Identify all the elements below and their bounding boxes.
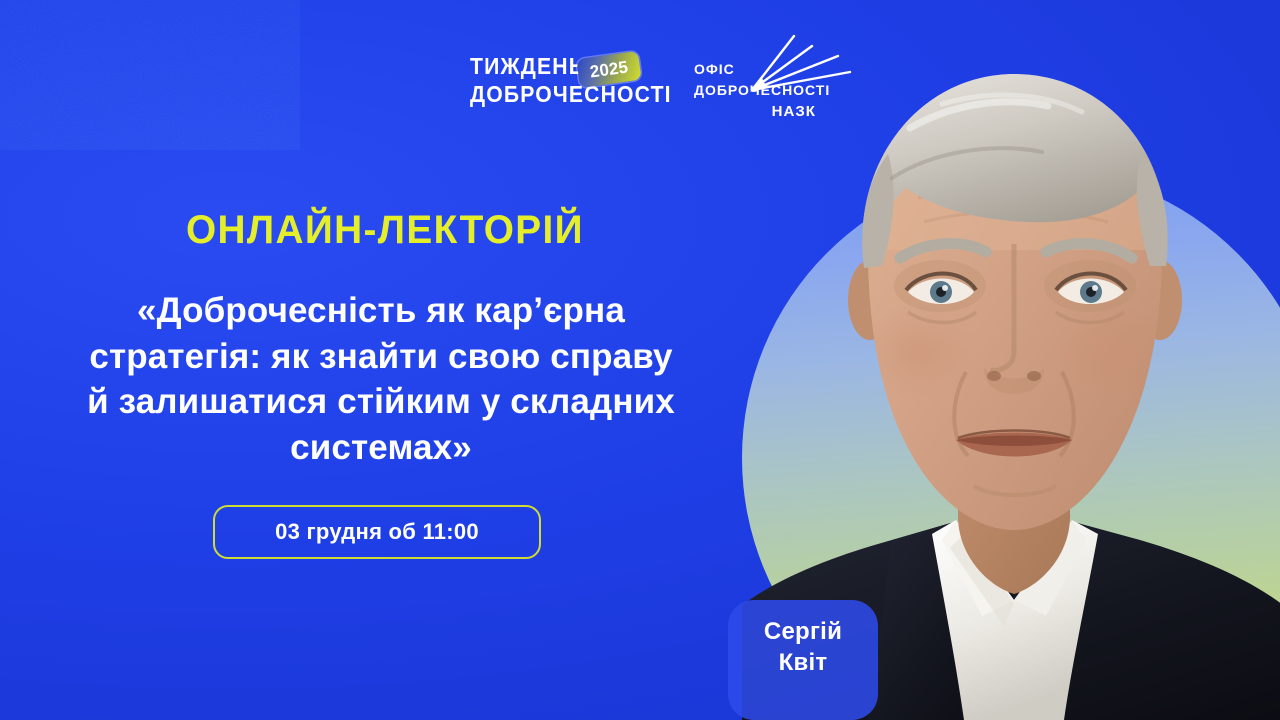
main-content: ОНЛАЙН-ЛЕКТОРІЙ «Доброчесність як кар’єр…	[0, 0, 748, 720]
speaker-nameplate: Сергій Квіт	[728, 600, 878, 720]
date-time-label: 03 грудня об 11:00	[275, 519, 479, 545]
date-time-badge: 03 грудня об 11:00	[213, 505, 541, 559]
kicker-label: ОНЛАЙН-ЛЕКТОРІЙ	[186, 208, 584, 253]
speaker-first-name: Сергій	[764, 616, 842, 647]
speaker-last-name: Квіт	[779, 647, 828, 678]
headline-line-2: стратегія: як знайти свою справу	[36, 334, 726, 380]
headline-line-4: системах»	[36, 425, 726, 471]
headline-line-1: «Доброчесність як кар’єрна	[36, 288, 726, 334]
headline: «Доброчесність як кар’єрна стратегія: як…	[36, 288, 726, 470]
promo-poster: ТИЖДЕНЬ ДОБРОЧЕСНОСТІ 2025 ОФІС ДОБРОЧЕС…	[0, 0, 1280, 720]
headline-line-3: й залишатися стійким у складних	[36, 379, 726, 425]
